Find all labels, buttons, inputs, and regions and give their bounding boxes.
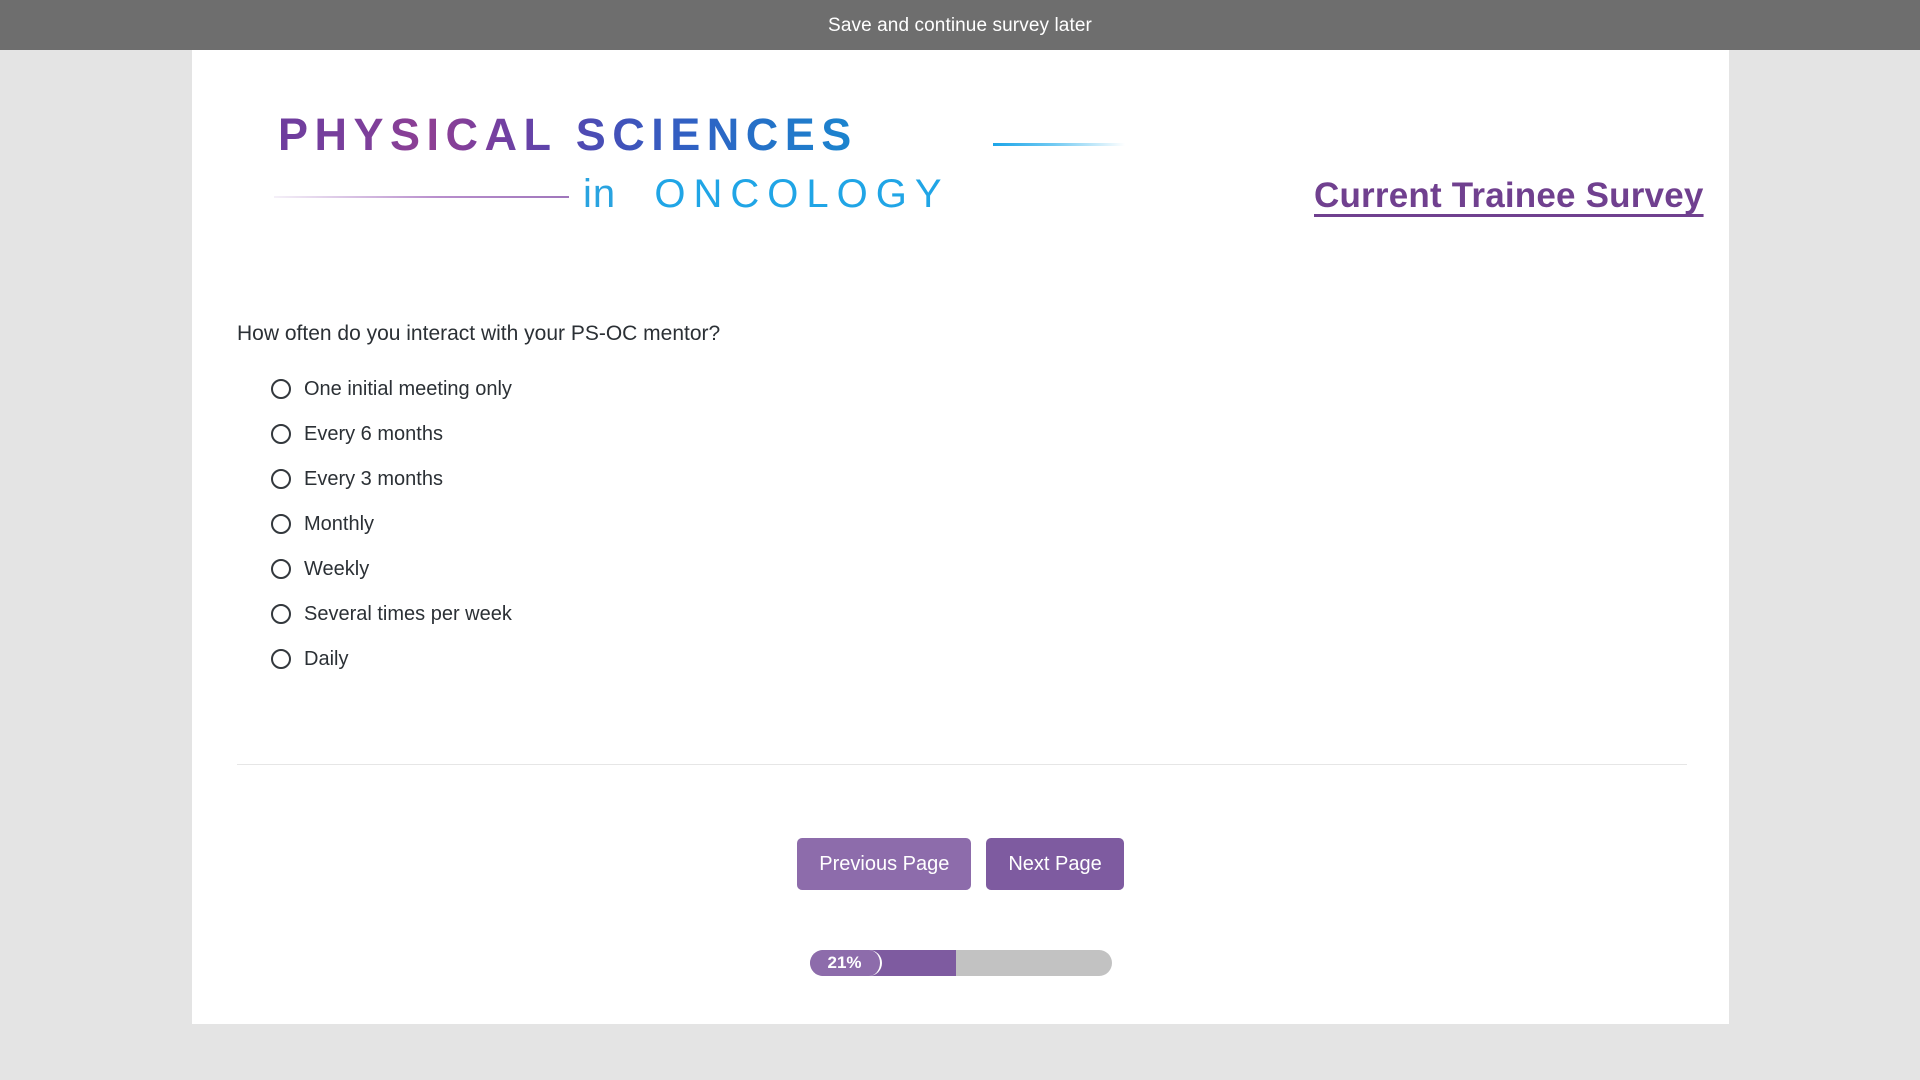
- radio-circle-icon[interactable]: [271, 514, 291, 534]
- radio-option-weekly[interactable]: Weekly: [237, 546, 1687, 591]
- save-and-continue-bar: Save and continue survey later: [0, 0, 1920, 50]
- progress-percent-label: 21%: [810, 950, 882, 976]
- radio-circle-icon[interactable]: [271, 469, 291, 489]
- radio-option-label: Monthly: [304, 512, 374, 536]
- logo-purple-rule: [274, 196, 569, 198]
- radio-circle-icon[interactable]: [271, 379, 291, 399]
- logo-text-physical-sciences: PHYSICAL SCIENCES: [278, 106, 858, 164]
- radio-option-several-times-per-week[interactable]: Several times per week: [237, 591, 1687, 636]
- psoc-logo: PHYSICAL SCIENCES in ONCOLOGY: [278, 106, 1088, 221]
- radio-option-one-initial-meeting-only[interactable]: One initial meeting only: [237, 366, 1687, 411]
- radio-option-label: One initial meeting only: [304, 377, 512, 401]
- next-page-button[interactable]: Next Page: [986, 838, 1123, 890]
- question-text: How often do you interact with your PS-O…: [237, 320, 1687, 348]
- radio-circle-icon[interactable]: [271, 424, 291, 444]
- survey-page-container: PHYSICAL SCIENCES in ONCOLOGY Current Tr…: [192, 50, 1729, 1024]
- survey-header: PHYSICAL SCIENCES in ONCOLOGY Current Tr…: [192, 62, 1729, 232]
- radio-option-label: Every 3 months: [304, 467, 443, 491]
- section-divider: [237, 764, 1687, 765]
- radio-option-label: Weekly: [304, 557, 369, 581]
- radio-option-label: Every 6 months: [304, 422, 443, 446]
- radio-circle-icon[interactable]: [271, 559, 291, 579]
- radio-group: One initial meeting only Every 6 months …: [237, 366, 1687, 681]
- logo-text-oncology: ONCOLOGY: [654, 172, 949, 216]
- radio-option-daily[interactable]: Daily: [237, 636, 1687, 681]
- save-and-continue-link[interactable]: Save and continue survey later: [828, 16, 1092, 35]
- question-block: How often do you interact with your PS-O…: [237, 320, 1687, 681]
- radio-circle-icon[interactable]: [271, 649, 291, 669]
- logo-text-in-oncology: in ONCOLOGY: [583, 168, 950, 220]
- logo-blue-rule: [993, 143, 1125, 146]
- progress-bar-wrapper: 21%: [192, 950, 1729, 976]
- survey-progress-bar: 21%: [810, 950, 1112, 976]
- radio-option-label: Daily: [304, 647, 348, 671]
- navigation-buttons: Previous Page Next Page: [192, 838, 1729, 890]
- radio-option-label: Several times per week: [304, 602, 512, 626]
- radio-option-every-6-months[interactable]: Every 6 months: [237, 411, 1687, 456]
- radio-option-every-3-months[interactable]: Every 3 months: [237, 456, 1687, 501]
- radio-option-monthly[interactable]: Monthly: [237, 501, 1687, 546]
- radio-circle-icon[interactable]: [271, 604, 291, 624]
- previous-page-button[interactable]: Previous Page: [797, 838, 971, 890]
- page-title: Current Trainee Survey: [1314, 176, 1704, 216]
- logo-text-in: in: [583, 172, 616, 216]
